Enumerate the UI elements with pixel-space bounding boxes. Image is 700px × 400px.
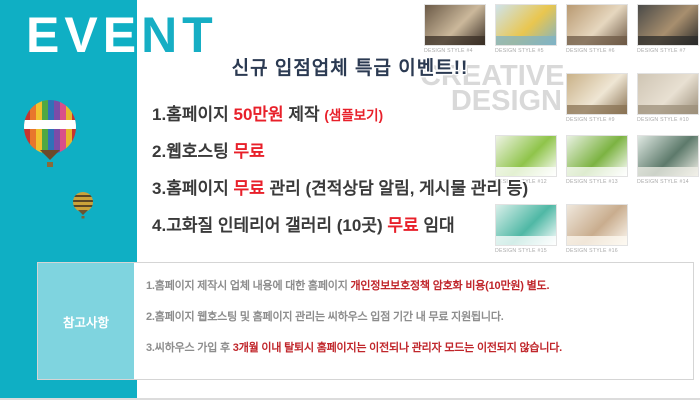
benefit-item-1: 1.홈페이지 50만원 제작 (샘플보기) [152, 100, 528, 125]
notice-line-2-text: 2.홈페이지 웹호스팅 및 홈페이지 관리는 씨하우스 입점 기간 내 무료 지… [146, 311, 504, 323]
benefit-item-4: 4.고화질 인테리어 갤러리 (10곳) 무료 임대 [152, 211, 528, 236]
thumbnail-caption: DESIGN STYLE #10 [637, 117, 699, 123]
design-style-thumbnail[interactable]: DESIGN STYLE #6 [566, 4, 628, 54]
thumbnail-accent-bar [496, 36, 556, 45]
design-style-thumbnail[interactable]: DESIGN STYLE #7 [637, 4, 699, 54]
event-banner: EVENT [0, 0, 700, 400]
benefit-highlight-1: 50만원 [233, 105, 283, 124]
benefit-text-3: 홈페이지 [166, 179, 233, 198]
thumbnail-caption: DESIGN STYLE #7 [637, 48, 699, 54]
benefit-text-4: 고화질 인테리어 갤러리 (10곳) [166, 216, 387, 235]
notice-line-3-highlight: 3개월 이내 탈퇴시 홈페이지는 이전되나 관리자 모드는 이전되지 않습니다. [233, 342, 562, 354]
benefit-number-1: 1. [152, 105, 166, 124]
thumbnail-image [637, 135, 699, 177]
event-logo-title: EVENT [26, 8, 218, 62]
design-style-thumbnail[interactable]: DESIGN STYLE #9 [566, 73, 628, 123]
notice-line-list: 1.홈페이지 제작시 업체 내용에 대한 홈페이지 개인정보보호정책 암호화 비… [146, 277, 687, 370]
thumbnail-accent-bar [567, 105, 627, 114]
notice-line-2: 2.홈페이지 웹호스팅 및 홈페이지 관리는 씨하우스 입점 기간 내 무료 지… [146, 308, 687, 324]
thumbnail-caption: DESIGN STYLE #13 [566, 179, 628, 185]
notice-box: 참고사항 1.홈페이지 제작시 업체 내용에 대한 홈페이지 개인정보보호정책 … [37, 262, 694, 380]
event-logo-white-part: EVE [26, 7, 141, 63]
thumbnail-image [566, 73, 628, 115]
notice-line-3: 3.씨하우스 가입 후 3개월 이내 탈퇴시 홈페이지는 이전되나 관리자 모드… [146, 339, 687, 355]
benefit-item-2: 2.웹호스팅 무료 [152, 137, 528, 162]
promo-benefit-list: 1.홈페이지 50만원 제작 (샘플보기)2.웹호스팅 무료3.홈페이지 무료 … [152, 100, 528, 248]
thumbnail-caption: DESIGN STYLE #15 [495, 248, 557, 254]
thumbnail-image [637, 73, 699, 115]
thumbnail-image [637, 4, 699, 46]
benefit-text-after-3: 관리 (견적상담 알림, 게시물 관리 등) [265, 179, 528, 198]
notice-line-1: 1.홈페이지 제작시 업체 내용에 대한 홈페이지 개인정보보호정책 암호화 비… [146, 277, 687, 293]
design-style-thumbnail[interactable]: DESIGN STYLE #16 [566, 204, 628, 254]
thumbnail-caption: DESIGN STYLE #9 [566, 117, 628, 123]
design-style-thumbnail[interactable]: DESIGN STYLE #10 [637, 73, 699, 123]
benefit-number-4: 4. [152, 216, 166, 235]
thumbnail-accent-bar [638, 105, 698, 114]
thumbnail-caption: DESIGN STYLE #14 [637, 179, 699, 185]
event-logo-teal-part: NT [141, 7, 218, 63]
thumbnail-accent-bar [567, 236, 627, 245]
benefit-sample-link-1: (샘플보기) [324, 108, 383, 123]
thumbnail-image [566, 204, 628, 246]
design-style-thumbnail[interactable]: DESIGN STYLE #5 [495, 4, 557, 54]
thumbnail-image [424, 4, 486, 46]
thumbnail-image [566, 135, 628, 177]
thumbnail-accent-bar [638, 36, 698, 45]
benefit-text-after-4: 임대 [419, 216, 455, 235]
notice-line-1-text: 1.홈페이지 제작시 업체 내용에 대한 홈페이지 [146, 280, 350, 292]
thumbnail-accent-bar [638, 167, 698, 176]
benefit-number-3: 3. [152, 179, 166, 198]
benefit-highlight-2: 무료 [233, 142, 264, 161]
benefit-text-after-1: 제작 [284, 105, 325, 124]
benefit-text-2: 웹호스팅 [166, 142, 233, 161]
notice-label: 참고사항 [38, 263, 134, 379]
notice-line-3-text: 3.씨하우스 가입 후 [146, 342, 233, 354]
design-style-thumbnail[interactable]: DESIGN STYLE #14 [637, 135, 699, 185]
teal-bottom-block [0, 380, 137, 400]
benefit-text-1: 홈페이지 [166, 105, 233, 124]
thumbnail-image [495, 4, 557, 46]
thumbnail-accent-bar [567, 36, 627, 45]
hot-air-balloon-large-icon [22, 100, 78, 172]
benefit-number-2: 2. [152, 142, 166, 161]
design-style-thumbnail[interactable]: DESIGN STYLE #13 [566, 135, 628, 185]
benefit-highlight-3: 무료 [233, 179, 264, 198]
thumbnail-caption: DESIGN STYLE #6 [566, 48, 628, 54]
thumbnail-caption: DESIGN STYLE #16 [566, 248, 628, 254]
notice-line-1-highlight: 개인정보보호정책 암호화 비용(10만원) 별도. [350, 280, 549, 292]
design-style-thumbnail[interactable]: DESIGN STYLE #4 [424, 4, 486, 54]
thumbnail-accent-bar [567, 167, 627, 176]
thumbnail-image [566, 4, 628, 46]
hot-air-balloon-small-icon [72, 192, 94, 220]
benefit-highlight-4: 무료 [387, 216, 418, 235]
thumbnail-accent-bar [425, 36, 485, 45]
benefit-item-3: 3.홈페이지 무료 관리 (견적상담 알림, 게시물 관리 등) [152, 174, 528, 199]
